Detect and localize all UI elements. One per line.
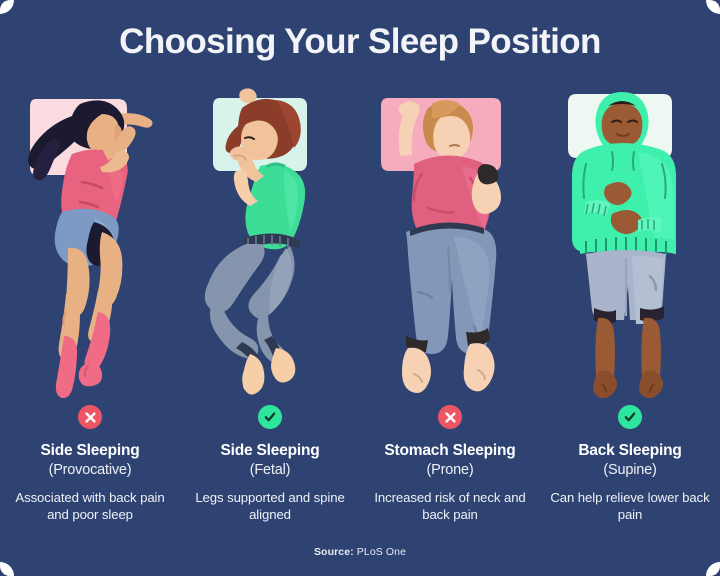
check-mark-icon (623, 410, 637, 424)
illustration-side-fetal (180, 86, 360, 398)
infographic-poster: Choosing Your Sleep Position (0, 0, 720, 576)
position-title: Side Sleeping (186, 441, 354, 460)
position-subtitle: (Supine) (546, 461, 714, 480)
source-attribution: Source: PLoS One (0, 546, 720, 558)
check-mark-icon (263, 410, 277, 424)
position-title: Back Sleeping (546, 441, 714, 460)
man-stomach-sleeping-prone-svg (370, 86, 530, 398)
corner-artifact-top-left (0, 0, 14, 14)
corner-artifact-top-right (706, 0, 720, 14)
position-card-back-supine: Back Sleeping (Supine) Can help relieve … (540, 405, 720, 523)
illustration-row (0, 86, 720, 398)
position-subtitle: (Fetal) (186, 461, 354, 480)
status-badge-bad (78, 405, 102, 429)
status-badge-bad (438, 405, 462, 429)
illustration-back-supine (540, 86, 720, 398)
position-cards-row: Side Sleeping (Provocative) Associated w… (0, 405, 720, 523)
position-description: Legs supported and spine aligned (186, 489, 354, 523)
position-card-stomach-prone: Stomach Sleeping (Prone) Increased risk … (360, 405, 540, 523)
position-title: Stomach Sleeping (366, 441, 534, 460)
close-x-icon (444, 411, 457, 424)
position-subtitle: (Provocative) (6, 461, 174, 480)
man-back-sleeping-supine-svg (550, 86, 710, 398)
woman-side-sleeping-provocative-svg (10, 86, 170, 398)
corner-artifact-bottom-right (706, 562, 720, 576)
source-name: PLoS One (357, 546, 406, 558)
status-badge-good (258, 405, 282, 429)
position-subtitle: (Prone) (366, 461, 534, 480)
position-title: Side Sleeping (6, 441, 174, 460)
source-label: Source: (314, 546, 354, 558)
illustration-stomach-prone (360, 86, 540, 398)
position-card-side-provocative: Side Sleeping (Provocative) Associated w… (0, 405, 180, 523)
illustration-side-provocative (0, 86, 180, 398)
close-x-icon (84, 411, 97, 424)
corner-artifact-bottom-left (0, 562, 14, 576)
page-title: Choosing Your Sleep Position (0, 20, 720, 64)
position-description: Can help relieve lower back pain (546, 489, 714, 523)
status-badge-good (618, 405, 642, 429)
position-description: Associated with back pain and poor sleep (6, 489, 174, 523)
woman-side-sleeping-fetal-svg (190, 86, 350, 398)
position-card-side-fetal: Side Sleeping (Fetal) Legs supported and… (180, 405, 360, 523)
position-description: Increased risk of neck and back pain (366, 489, 534, 523)
